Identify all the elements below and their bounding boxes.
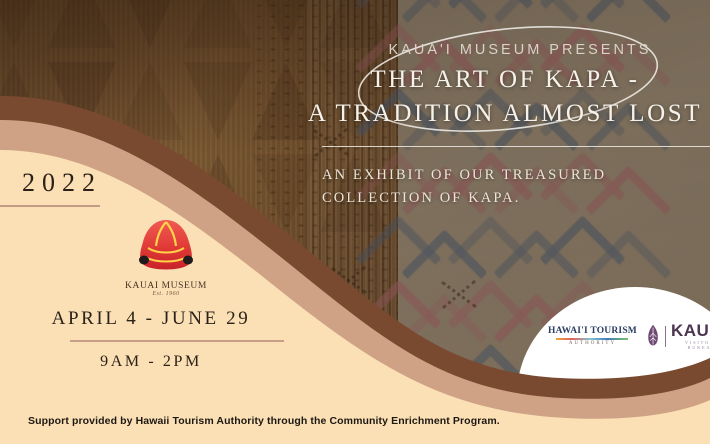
logo-divider	[665, 326, 666, 347]
museum-established: Est. 1960	[114, 291, 218, 297]
dates-divider	[70, 340, 284, 342]
title-divider	[322, 146, 710, 147]
title-line-2: A TRADITION ALMOST LOST	[300, 97, 710, 131]
kvb-subtitle: VISITORS BUREAU	[671, 340, 710, 350]
page-title: THE ART OF KAPA - A TRADITION ALMOST LOS…	[300, 63, 710, 131]
sponsor-logos: HAWAI'I TOURISM AUTHORITY KAUA'I VISITOR…	[548, 322, 710, 350]
kvb-name: KAUA'I	[671, 322, 710, 339]
title-line-1: THE ART OF KAPA -	[300, 63, 710, 97]
year-underline	[0, 205, 100, 207]
rainbow-bar-icon	[556, 338, 628, 341]
exhibit-poster: KAUA'I MUSEUM PRESENTS THE ART OF KAPA -…	[0, 0, 710, 444]
feather-helmet-icon	[124, 218, 208, 274]
hta-subtitle: AUTHORITY	[548, 341, 637, 346]
exhibit-description: AN EXHIBIT OF OUR TREASURED COLLECTION O…	[322, 164, 702, 210]
support-note: Support provided by Hawaii Tourism Autho…	[28, 415, 500, 427]
hta-name: HAWAI'I TOURISM	[548, 326, 637, 336]
taro-leaf-icon	[646, 324, 660, 348]
description-line-2: COLLECTION OF KAPA.	[322, 187, 702, 210]
museum-name: KAUAI MUSEUM	[114, 281, 218, 291]
presenter-label: KAUA'I MUSEUM PRESENTS	[352, 42, 688, 58]
description-line-1: AN EXHIBIT OF OUR TREASURED	[322, 164, 702, 187]
year-label: 2022	[22, 168, 102, 198]
sponsor-logo-hawaii-tourism-authority: HAWAI'I TOURISM AUTHORITY	[548, 326, 637, 346]
sponsor-logo-kauai-visitors-bureau: KAUA'I VISITORS BUREAU	[646, 322, 710, 350]
museum-logo: KAUAI MUSEUM Est. 1960	[114, 218, 218, 297]
exhibit-hours: 9AM - 2PM	[0, 353, 302, 371]
exhibit-dates: APRIL 4 - JUNE 29	[0, 308, 302, 330]
